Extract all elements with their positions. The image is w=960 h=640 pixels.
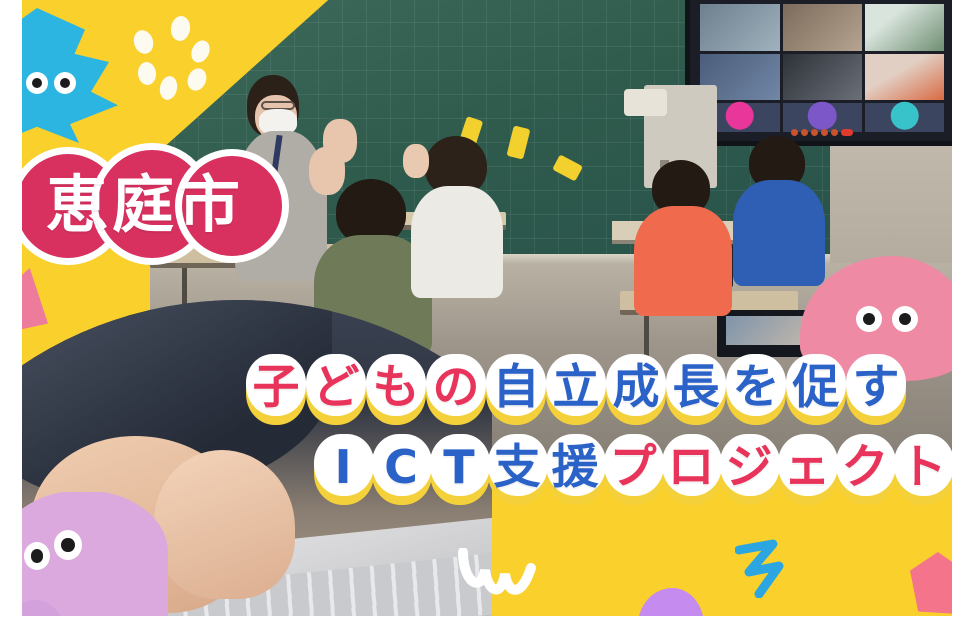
headline-char: ど [304,352,368,422]
headline-char: 自 [484,352,548,422]
headline-char: プ [602,432,664,502]
headline-char: す [844,352,908,422]
headline: 子どもの自立成長を促す ICT支援プロジェクト [0,352,960,502]
headline-char-glyph: 促 [793,364,840,411]
conference-tile [700,4,779,50]
headline-char: 促 [784,352,848,422]
headline-line-1: 子どもの自立成長を促す [0,352,960,422]
headline-char: ジ [718,432,780,502]
conference-grid [700,4,944,100]
headline-char: C [370,432,432,502]
headline-char: 援 [544,432,606,502]
headline-char-glyph: 援 [552,444,599,491]
headline-char-glyph: ロ [668,444,715,491]
city-badge: 恵庭市 [10,150,280,260]
headline-char: 立 [544,352,608,422]
white-squiggle-icon [455,548,545,604]
bottom-margin [0,616,960,640]
headline-char-glyph: 立 [553,364,600,411]
headline-char-glyph: ェ [784,444,831,491]
right-margin [952,0,960,640]
headline-char-glyph: す [853,364,900,411]
mascot-eye-right [54,72,76,94]
headline-char: を [724,352,788,422]
conference-tile [783,54,862,100]
headline-char-glyph: 支 [494,444,541,491]
conference-tile [783,4,862,50]
mascot-eye-left [26,72,48,94]
headline-char: ロ [660,432,722,502]
headline-char-glyph: を [733,364,780,411]
headline-char-glyph: ジ [726,444,773,491]
conference-tile [865,54,944,100]
mascot-eye-left [856,306,882,332]
headline-char: 支 [486,432,548,502]
headline-char-glyph: ト [900,444,947,491]
headline-char-glyph: ど [313,364,360,411]
city-name-label: 恵庭市 [10,150,280,260]
headline-char: I [312,432,374,502]
headline-line-2: ICT支援プロジェクト [0,432,960,502]
headline-char: の [424,352,488,422]
mascot-eye-right [54,530,82,560]
headline-char-glyph: プ [610,444,657,491]
headline-char-glyph: も [373,364,420,411]
headline-char: も [364,352,428,422]
headline-char-glyph: C [384,444,418,490]
headline-char: ト [892,432,954,502]
conference-tile [865,103,944,132]
headline-char: 成 [604,352,668,422]
blue-zigzag-icon [735,538,815,598]
headline-char: ェ [776,432,838,502]
mascot-eye-left [24,542,50,570]
headline-char-glyph: の [433,364,480,411]
headline-char-glyph: 成 [613,364,660,411]
mascot-eye-right [892,306,918,332]
promo-banner: 恵庭市 子どもの自立成長を促す ICT支援プロジェクト [0,0,960,640]
conference-tile [865,4,944,50]
headline-char: ク [834,432,896,502]
headline-char-glyph: 子 [253,364,300,411]
headline-char-glyph: 自 [493,364,540,411]
left-margin [0,0,22,640]
video-conference-display [685,0,960,146]
headline-char: 長 [664,352,728,422]
headline-char-glyph: 長 [673,364,720,411]
headline-char-glyph: I [334,444,351,490]
headline-char-glyph: T [443,444,474,490]
headline-char: T [428,432,490,502]
headline-char: 子 [244,352,308,422]
headline-char-glyph: ク [842,444,889,491]
